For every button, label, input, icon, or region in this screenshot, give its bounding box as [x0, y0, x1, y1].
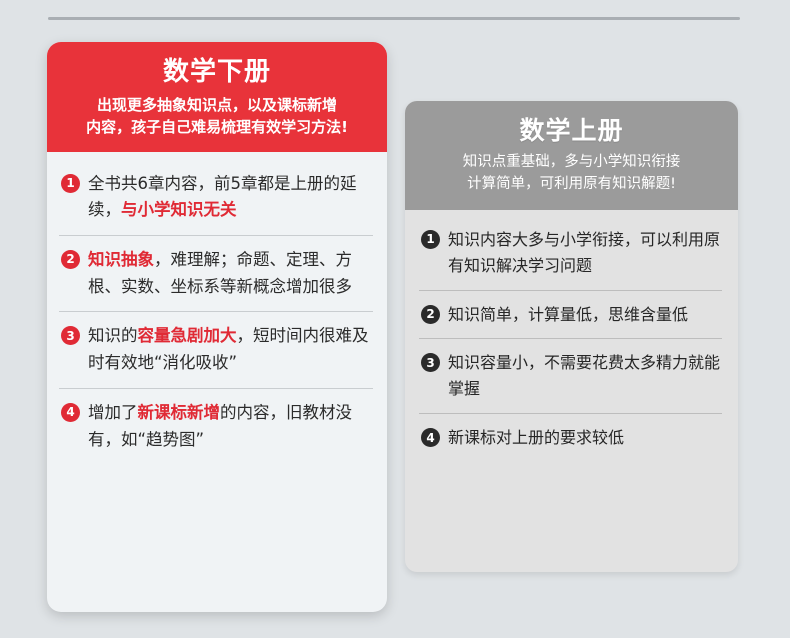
volume-two-subtitle-line2: 内容，孩子自己难易梳理有效学习方法! — [61, 116, 373, 139]
list-item-number-badge: 1 — [421, 230, 440, 249]
list-item-number-badge: 1 — [61, 174, 80, 193]
volume-one-list: 1知识内容大多与小学衔接，可以利用原有知识解决学习问题2知识简单，计算量低，思维… — [405, 210, 738, 472]
highlighted-phrase: 容量急剧加大 — [138, 326, 237, 345]
plain-phrase: 增加了 — [88, 403, 138, 422]
list-item: 4新课标对上册的要求较低 — [419, 413, 722, 462]
list-item: 4增加了新课标新增的内容，旧教材没有，如“趋势图” — [59, 388, 373, 464]
top-divider-rule — [48, 17, 740, 20]
list-item-number-badge: 2 — [421, 305, 440, 324]
list-item-number-badge: 3 — [61, 326, 80, 345]
list-item: 1知识内容大多与小学衔接，可以利用原有知识解决学习问题 — [419, 216, 722, 290]
list-item-text: 知识内容大多与小学衔接，可以利用原有知识解决学习问题 — [448, 227, 720, 279]
math-volume-two-card: 数学下册 出现更多抽象知识点，以及课标新增 内容，孩子自己难易梳理有效学习方法!… — [47, 42, 387, 612]
volume-two-title: 数学下册 — [61, 56, 373, 89]
plain-phrase: 知识容量小，不需要花费太多精力就能掌握 — [448, 353, 720, 398]
comparison-infographic: 数学上册 知识点重基础，多与小学知识衔接 计算简单，可利用原有知识解题! 1知识… — [0, 0, 790, 638]
list-item: 3知识的容量急剧加大，短时间内很难及时有效地“消化吸收” — [59, 311, 373, 387]
volume-two-header: 数学下册 出现更多抽象知识点，以及课标新增 内容，孩子自己难易梳理有效学习方法! — [47, 42, 387, 152]
highlighted-phrase: 知识抽象 — [88, 250, 154, 269]
volume-two-subtitle-line1: 出现更多抽象知识点，以及课标新增 — [61, 94, 373, 117]
list-item: 1全书共6章内容，前5章都是上册的延续，与小学知识无关 — [59, 160, 373, 235]
volume-two-list: 1全书共6章内容，前5章都是上册的延续，与小学知识无关2知识抽象，难理解；命题、… — [47, 152, 387, 475]
list-item-text: 知识的容量急剧加大，短时间内很难及时有效地“消化吸收” — [88, 323, 371, 376]
list-item: 2知识抽象，难理解；命题、定理、方根、实数、坐标系等新概念增加很多 — [59, 235, 373, 311]
volume-one-subtitle-line1: 知识点重基础，多与小学知识衔接 — [421, 152, 722, 174]
highlighted-phrase: 与小学知识无关 — [121, 200, 237, 219]
list-item-number-badge: 4 — [421, 428, 440, 447]
plain-phrase: 新课标对上册的要求较低 — [448, 428, 624, 447]
plain-phrase: 知识简单，计算量低，思维含量低 — [448, 305, 688, 324]
math-volume-one-card: 数学上册 知识点重基础，多与小学知识衔接 计算简单，可利用原有知识解题! 1知识… — [405, 101, 738, 572]
list-item-text: 知识容量小，不需要花费太多精力就能掌握 — [448, 350, 720, 402]
list-item-text: 新课标对上册的要求较低 — [448, 425, 624, 451]
list-item: 3知识容量小，不需要花费太多精力就能掌握 — [419, 338, 722, 413]
list-item-text: 知识抽象，难理解；命题、定理、方根、实数、坐标系等新概念增加很多 — [88, 247, 371, 300]
plain-phrase: 知识内容大多与小学衔接，可以利用原有知识解决学习问题 — [448, 230, 720, 275]
list-item-text: 增加了新课标新增的内容，旧教材没有，如“趋势图” — [88, 400, 371, 453]
volume-one-title: 数学上册 — [421, 115, 722, 146]
list-item-text: 知识简单，计算量低，思维含量低 — [448, 302, 688, 328]
list-item: 2知识简单，计算量低，思维含量低 — [419, 290, 722, 339]
volume-one-header: 数学上册 知识点重基础，多与小学知识衔接 计算简单，可利用原有知识解题! — [405, 101, 738, 210]
plain-phrase: 知识的 — [88, 326, 138, 345]
list-item-text: 全书共6章内容，前5章都是上册的延续，与小学知识无关 — [88, 171, 371, 224]
list-item-number-badge: 4 — [61, 403, 80, 422]
highlighted-phrase: 新课标新增 — [138, 403, 221, 422]
list-item-number-badge: 3 — [421, 353, 440, 372]
list-item-number-badge: 2 — [61, 250, 80, 269]
volume-one-subtitle-line2: 计算简单，可利用原有知识解题! — [421, 174, 722, 196]
